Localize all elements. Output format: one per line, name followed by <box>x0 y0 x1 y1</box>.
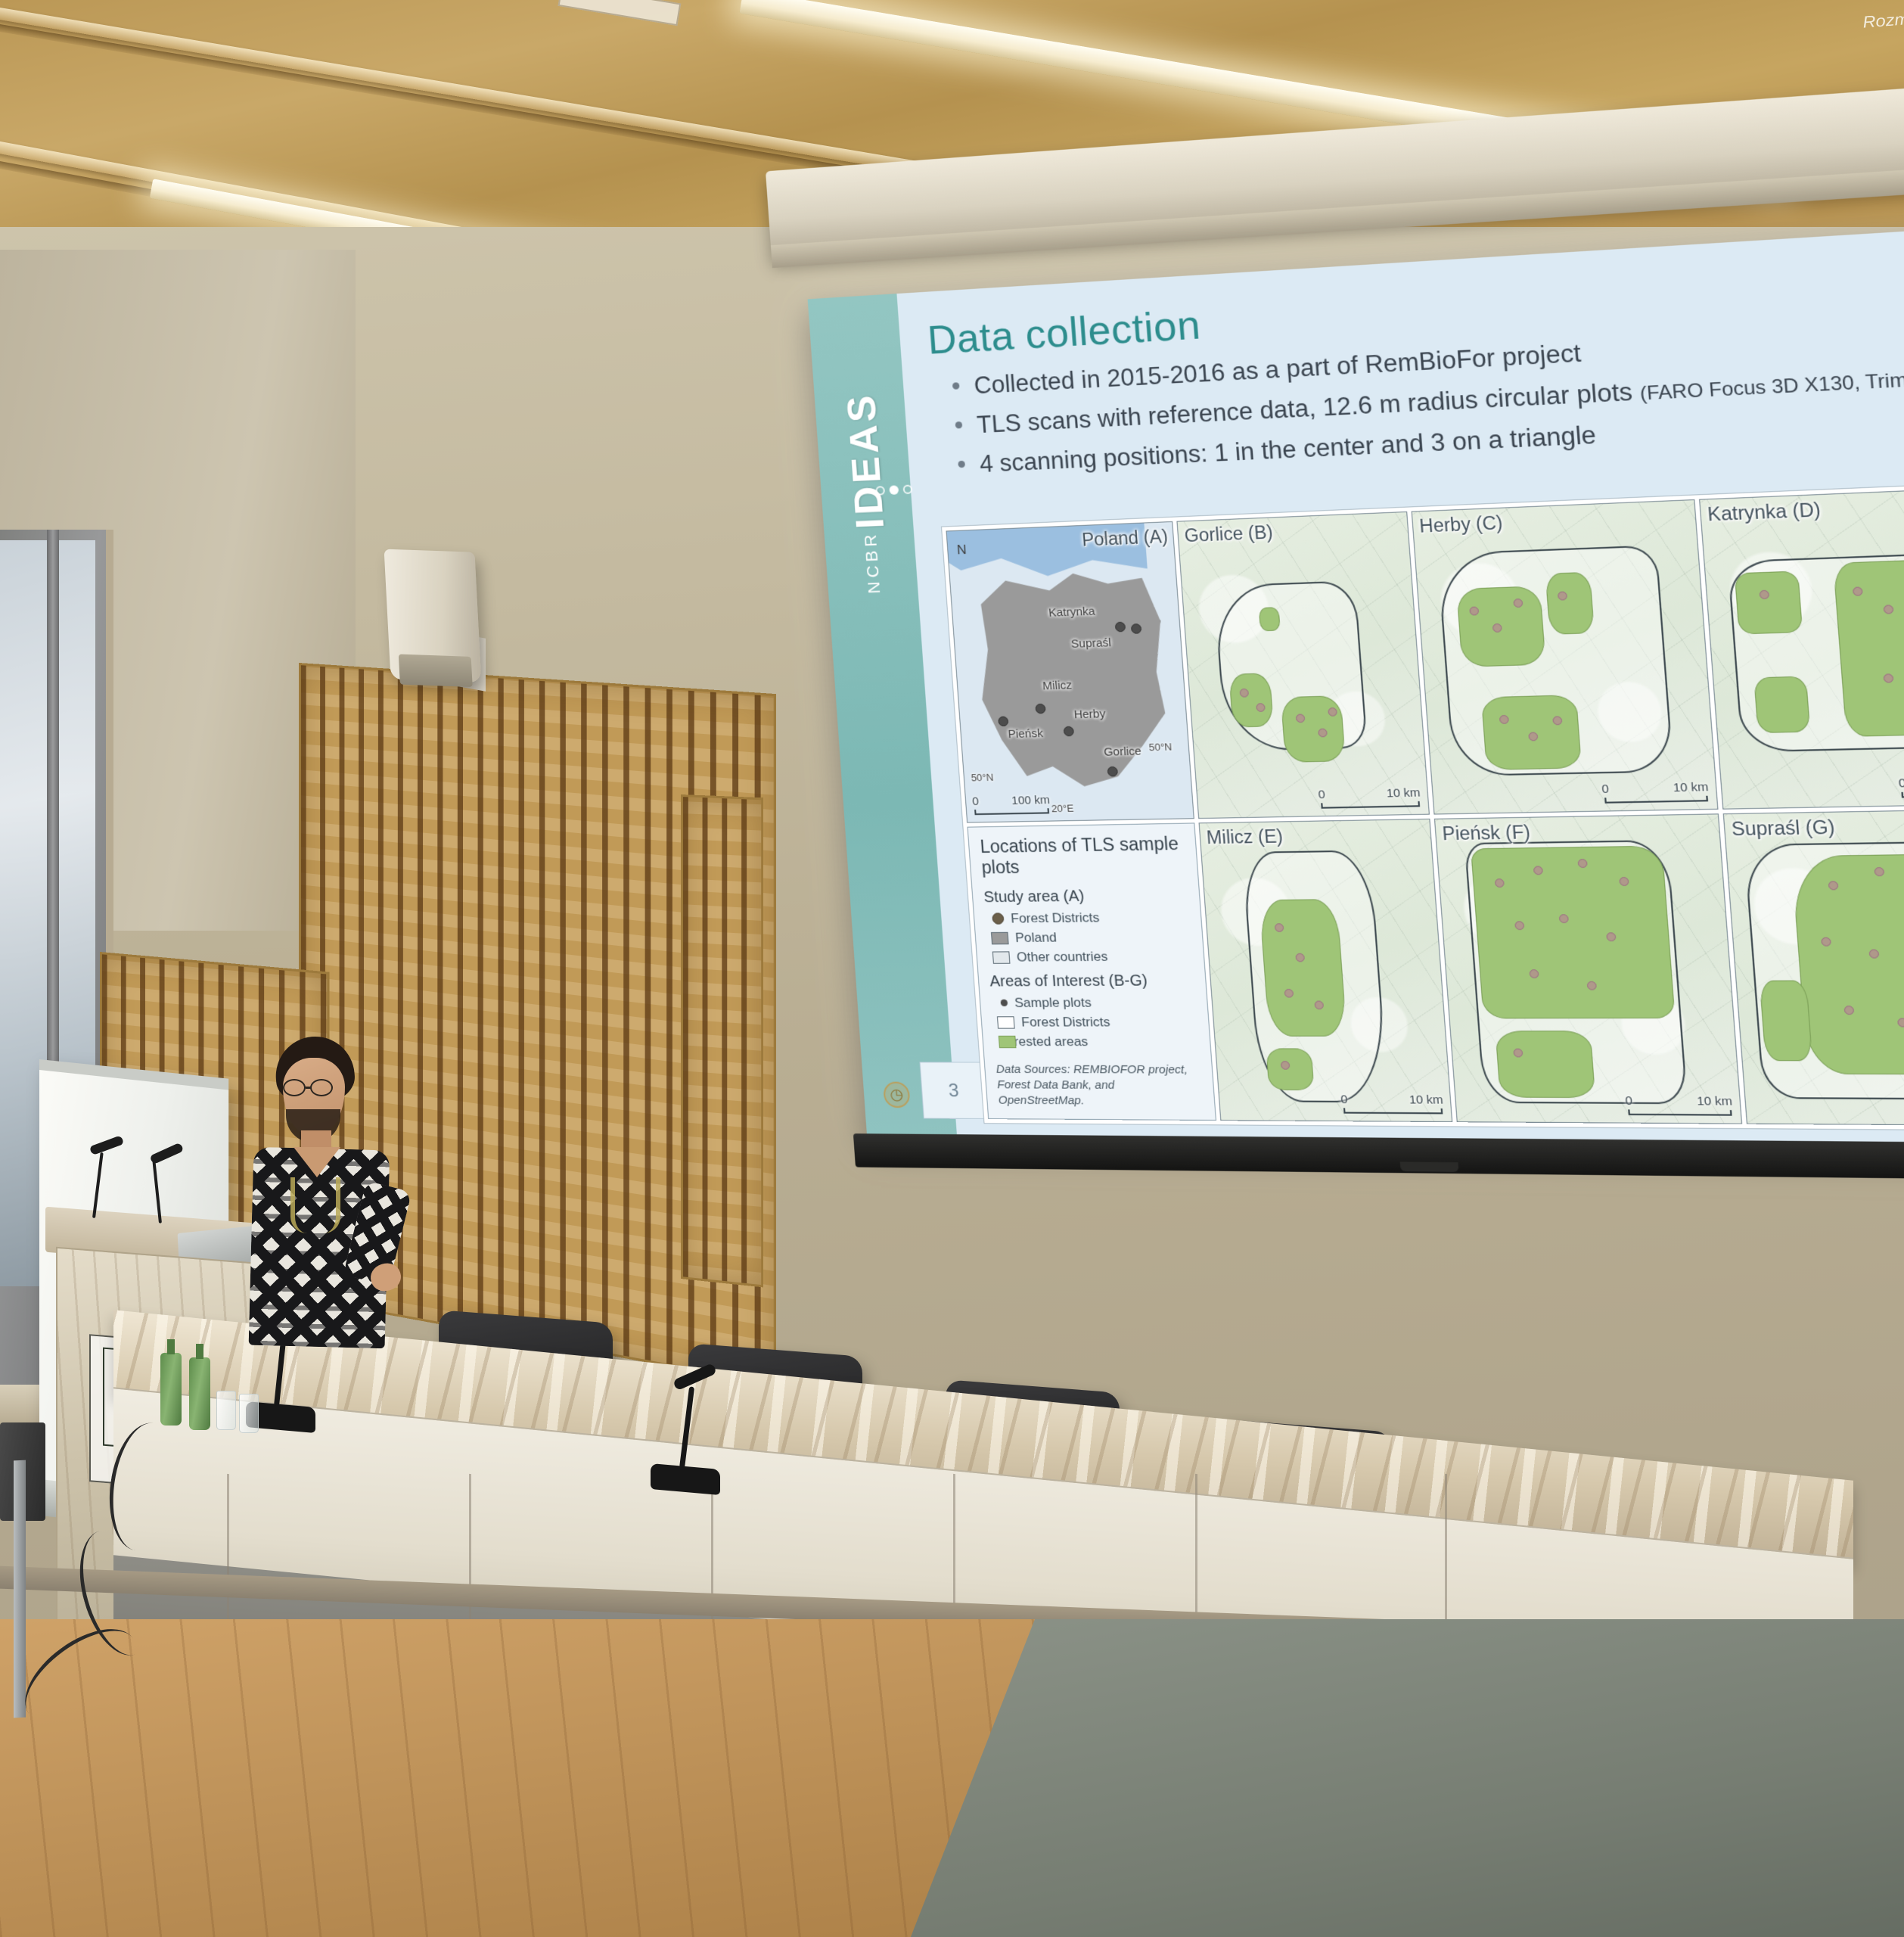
legend-item: Forested areas <box>999 1034 1199 1049</box>
scale-bar: 0 10 km <box>1342 1096 1443 1115</box>
legend-group-head: Areas of Interest (B-G) <box>989 972 1194 990</box>
legend-label: Sample plots <box>1014 995 1092 1011</box>
coord-label: 50°N <box>971 772 994 784</box>
legend-item: Other countries <box>992 948 1193 965</box>
sample-plot-marker <box>1868 949 1879 958</box>
sample-plot-marker <box>1275 923 1284 932</box>
sample-plot-marker <box>1328 707 1337 717</box>
eyeglasses-right-lens <box>310 1079 333 1096</box>
presentation-slide: IDEAS NCBR ◷ 3 Data collection Collected… <box>808 228 1904 1146</box>
sample-plot-marker <box>1318 729 1328 738</box>
sample-plot-marker <box>1843 1006 1854 1015</box>
north-arrow-icon: N <box>956 543 967 558</box>
legend-label: Forest Districts <box>1011 909 1101 926</box>
forested-area <box>1833 558 1904 738</box>
panel-label: Supraśl (G) <box>1731 816 1836 841</box>
water-bottle <box>160 1353 182 1426</box>
legend-item: Sample plots <box>995 994 1196 1010</box>
sample-plot-marker <box>1280 1061 1290 1070</box>
sample-plot-marker <box>1821 937 1831 946</box>
sample-plot-dot-icon <box>1000 1000 1008 1006</box>
city-label: Katrynka <box>1048 605 1096 620</box>
city-label: Pieńsk <box>1008 726 1044 741</box>
scale-min: 0 <box>1625 1094 1633 1108</box>
panel-label: Herby (C) <box>1418 512 1503 537</box>
sample-plot-marker <box>1619 877 1629 886</box>
map-panel-poland: N 20°E 50°N 50°N 20°E Katrynka Supraśl M… <box>946 521 1194 822</box>
scale-min: 0 <box>1340 1093 1348 1106</box>
forested-area <box>1229 673 1274 728</box>
sample-plot-marker <box>1558 591 1567 600</box>
sample-plot-marker <box>1606 932 1616 941</box>
scale-bar: 0 10 km <box>1603 783 1707 803</box>
presenter-lanyard <box>290 1177 340 1233</box>
presenter <box>241 1037 392 1362</box>
map-panel-piensk: Pieńsk (F) 0 10 km <box>1433 813 1741 1124</box>
scale-min: 0 <box>972 794 980 807</box>
scale-max: 10 km <box>1409 1093 1443 1107</box>
sample-plot-marker <box>1295 953 1305 962</box>
map-legend: Locations of TLS sample plots Study area… <box>967 822 1216 1121</box>
scale-max: 10 km <box>1386 785 1421 800</box>
city-label: Herby <box>1073 707 1106 722</box>
other-countries-swatch-icon <box>992 951 1011 963</box>
scale-bar: 0 10 km <box>1900 777 1904 797</box>
coord-label: 50°N <box>1148 742 1173 754</box>
legend-group-head: Study area (A) <box>983 886 1188 906</box>
legend-label: Poland <box>1015 930 1058 946</box>
city-marker <box>1035 703 1045 714</box>
sample-plot-marker <box>1533 866 1543 875</box>
legend-data-sources: Data Sources: REMBIOFOR project, Forest … <box>995 1062 1204 1110</box>
wall-speaker <box>384 549 482 683</box>
scale-max: 10 km <box>1697 1094 1733 1108</box>
sample-plot-marker <box>1469 606 1479 615</box>
sample-plot-marker <box>1828 881 1838 890</box>
forested-area <box>1760 981 1812 1062</box>
forest-district-dot-icon <box>992 913 1004 924</box>
city-marker <box>998 716 1008 726</box>
scale-max: 10 km <box>1673 780 1709 794</box>
forested-area <box>1281 695 1345 763</box>
forested-area <box>1258 607 1280 631</box>
legend-item: Forest Districts <box>997 1014 1197 1030</box>
sample-plot-marker <box>1284 989 1294 998</box>
forest-district-swatch-icon <box>997 1016 1015 1028</box>
legend-title: Locations of TLS sample plots <box>980 833 1186 878</box>
slide-surface: IDEAS NCBR ◷ 3 Data collection Collected… <box>808 228 1904 1146</box>
slide-corner-badge: ◷ <box>883 1082 911 1108</box>
city-label: Milicz <box>1042 679 1073 693</box>
forested-area <box>1545 572 1595 635</box>
drinking-glass <box>239 1394 259 1433</box>
map-figure: N 20°E 50°N 50°N 20°E Katrynka Supraśl M… <box>941 481 1904 1131</box>
legend-item: Forest Districts <box>989 909 1190 926</box>
sample-plot-marker <box>1514 921 1524 930</box>
sample-plot-marker <box>1883 673 1893 682</box>
forested-area <box>1734 571 1803 635</box>
panel-label: Gorlice (B) <box>1184 522 1274 547</box>
sample-plot-marker <box>1499 715 1509 724</box>
bullet-note: (FARO Focus 3D X130, Trimble TX5) <box>1639 365 1904 406</box>
legend-item: Poland <box>991 928 1191 946</box>
map-panel-milicz: Milicz (E) 0 10 km <box>1198 818 1452 1122</box>
forested-area <box>1266 1049 1315 1090</box>
legend-label: Other countries <box>1016 949 1108 965</box>
panel-label: Poland (A) <box>1081 526 1169 550</box>
screen-weight-bar <box>853 1133 1904 1180</box>
legend-label: Forest Districts <box>1021 1014 1111 1030</box>
scale-bar: 0 100 km <box>974 796 1049 814</box>
map-panel-suprasl: Supraśl (G) 0 10 km <box>1722 808 1904 1127</box>
panel-label: Pieńsk (F) <box>1442 822 1531 845</box>
panel-label: Milicz (E) <box>1206 825 1284 848</box>
lecture-hall-photo: Rozmawia: IBL IDEAS NCBR ◷ 3 Data collec… <box>0 0 1904 1937</box>
scale-max: 100 km <box>1011 793 1051 807</box>
scale-min: 0 <box>1898 776 1904 790</box>
eyeglasses-left-lens <box>283 1079 306 1096</box>
city-label: Supraśl <box>1070 636 1111 651</box>
scale-bar: 0 10 km <box>1627 1097 1732 1115</box>
city-label: Gorlice <box>1104 745 1142 759</box>
metal-pole <box>14 1460 26 1718</box>
scale-min: 0 <box>1318 788 1325 801</box>
scale-bar: 0 10 km <box>1320 789 1420 809</box>
forested-area <box>1259 899 1347 1037</box>
map-panel-herby: Herby (C) 0 10 km <box>1411 499 1718 814</box>
slide-body: Data collection Collected in 2015-2016 a… <box>896 228 1904 1146</box>
panel-label: Katrynka (D) <box>1707 499 1821 526</box>
drinking-glass <box>216 1391 236 1430</box>
ceiling-vent <box>558 0 682 26</box>
map-panel-katrynka: Katrynka (D) 0 10 km <box>1699 487 1904 809</box>
forested-area <box>1753 676 1810 733</box>
sample-plot-marker <box>1898 1018 1904 1027</box>
forested-area <box>1495 1031 1595 1098</box>
scale-min: 0 <box>1601 782 1610 795</box>
projection-screen: Rozmawia: IBL IDEAS NCBR ◷ 3 Data collec… <box>770 83 1904 1198</box>
carpet-floor <box>908 1619 1904 1937</box>
coord-label: 20°E <box>1051 802 1073 814</box>
poland-swatch-icon <box>991 931 1009 944</box>
forested-area <box>1470 846 1675 1018</box>
water-bottle <box>189 1357 210 1430</box>
forested-area-swatch-icon <box>999 1035 1017 1047</box>
acoustic-panel <box>681 794 763 1287</box>
eyeglasses-bridge <box>306 1087 312 1089</box>
map-panel-gorlice: Gorlice (B) 0 10 km <box>1176 511 1429 819</box>
